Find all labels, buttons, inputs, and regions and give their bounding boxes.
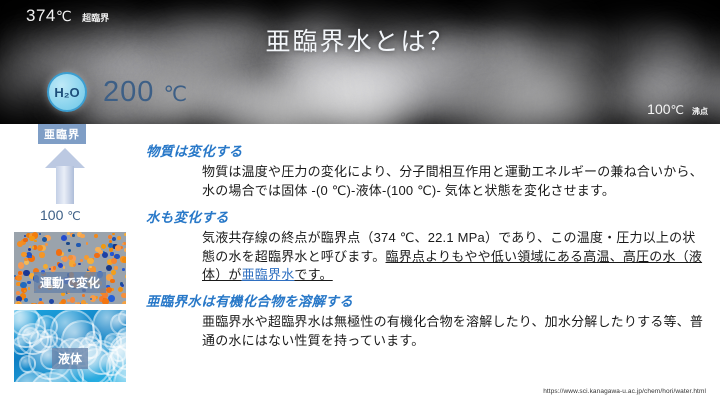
boiling-temperature: 100℃沸点: [647, 101, 708, 117]
section-text-underlined-b: です。: [294, 267, 332, 282]
subcritical-temp-unit: ℃: [163, 83, 188, 106]
section-text: 物質は温度や圧力の変化により、分子間相互作用と運動エネルギーの兼ね合いから、水の…: [202, 163, 706, 201]
arrow-temp-value: 100: [40, 207, 63, 223]
subcritical-temp-value: 200: [103, 76, 154, 108]
boiling-point-tag: 沸点: [692, 107, 708, 116]
section-dissolves-organics: 亜臨界水は有機化合物を溶解する 亜臨界水や超臨界水は無極性の有機化合物を溶解した…: [146, 290, 706, 351]
slide-root: 374℃超臨界 亜臨界水とは？ H₂O 200 ℃ 100℃沸点 亜臨界 100…: [0, 0, 720, 405]
steam-banner: 374℃超臨界 亜臨界水とは？ H₂O 200 ℃ 100℃沸点: [0, 0, 720, 124]
subcritical-badge: 亜臨界: [38, 124, 86, 144]
liquid-water-image: 液体: [14, 310, 126, 382]
section-heading: 水も変化する: [146, 206, 706, 226]
section-material-change: 物質は変化する 物質は温度や圧力の変化により、分子間相互作用と運動エネルギーの兼…: [146, 140, 706, 201]
page-title: 亜臨界水とは？: [0, 22, 720, 58]
boiling-temp-value: 100: [647, 101, 670, 117]
section-heading: 物質は変化する: [146, 140, 706, 160]
section-heading: 亜臨界水は有機化合物を溶解する: [146, 290, 706, 310]
arrow-base-temperature: 100 ℃: [40, 207, 81, 223]
h2o-badge-icon: H₂O: [47, 72, 87, 112]
molecular-motion-image: 運動で変化: [14, 232, 126, 304]
content-body: 物質は変化する 物質は温度や圧力の変化により、分子間相互作用と運動エネルギーの兼…: [146, 140, 706, 356]
source-url[interactable]: https://www.sci.kanagawa-u.ac.jp/chem/ho…: [543, 388, 706, 395]
section-text: 亜臨界水や超臨界水は無極性の有機化合物を溶解したり、加水分解したりする等、普通の…: [202, 313, 706, 351]
up-arrow-shaft: [56, 166, 74, 204]
subcritical-temperature: 200 ℃: [103, 76, 188, 109]
section-water-change: 水も変化する 気液共存線の終点が臨界点（374 ℃、22.1 MPa）であり、こ…: [146, 206, 706, 286]
boiling-temp-unit: ℃: [671, 103, 684, 117]
section-text: 気液共存線の終点が臨界点（374 ℃、22.1 MPa）であり、この温度・圧力以…: [202, 229, 706, 286]
h2o-temperature-row: H₂O 200 ℃: [47, 72, 188, 112]
subcritical-water-term: 亜臨界水: [242, 267, 295, 282]
arrow-temp-unit: ℃: [67, 209, 80, 223]
molecular-motion-label: 運動で変化: [34, 272, 106, 293]
up-arrow-icon: [42, 148, 88, 204]
liquid-water-label: 液体: [52, 348, 88, 369]
up-arrow-head: [45, 148, 85, 168]
